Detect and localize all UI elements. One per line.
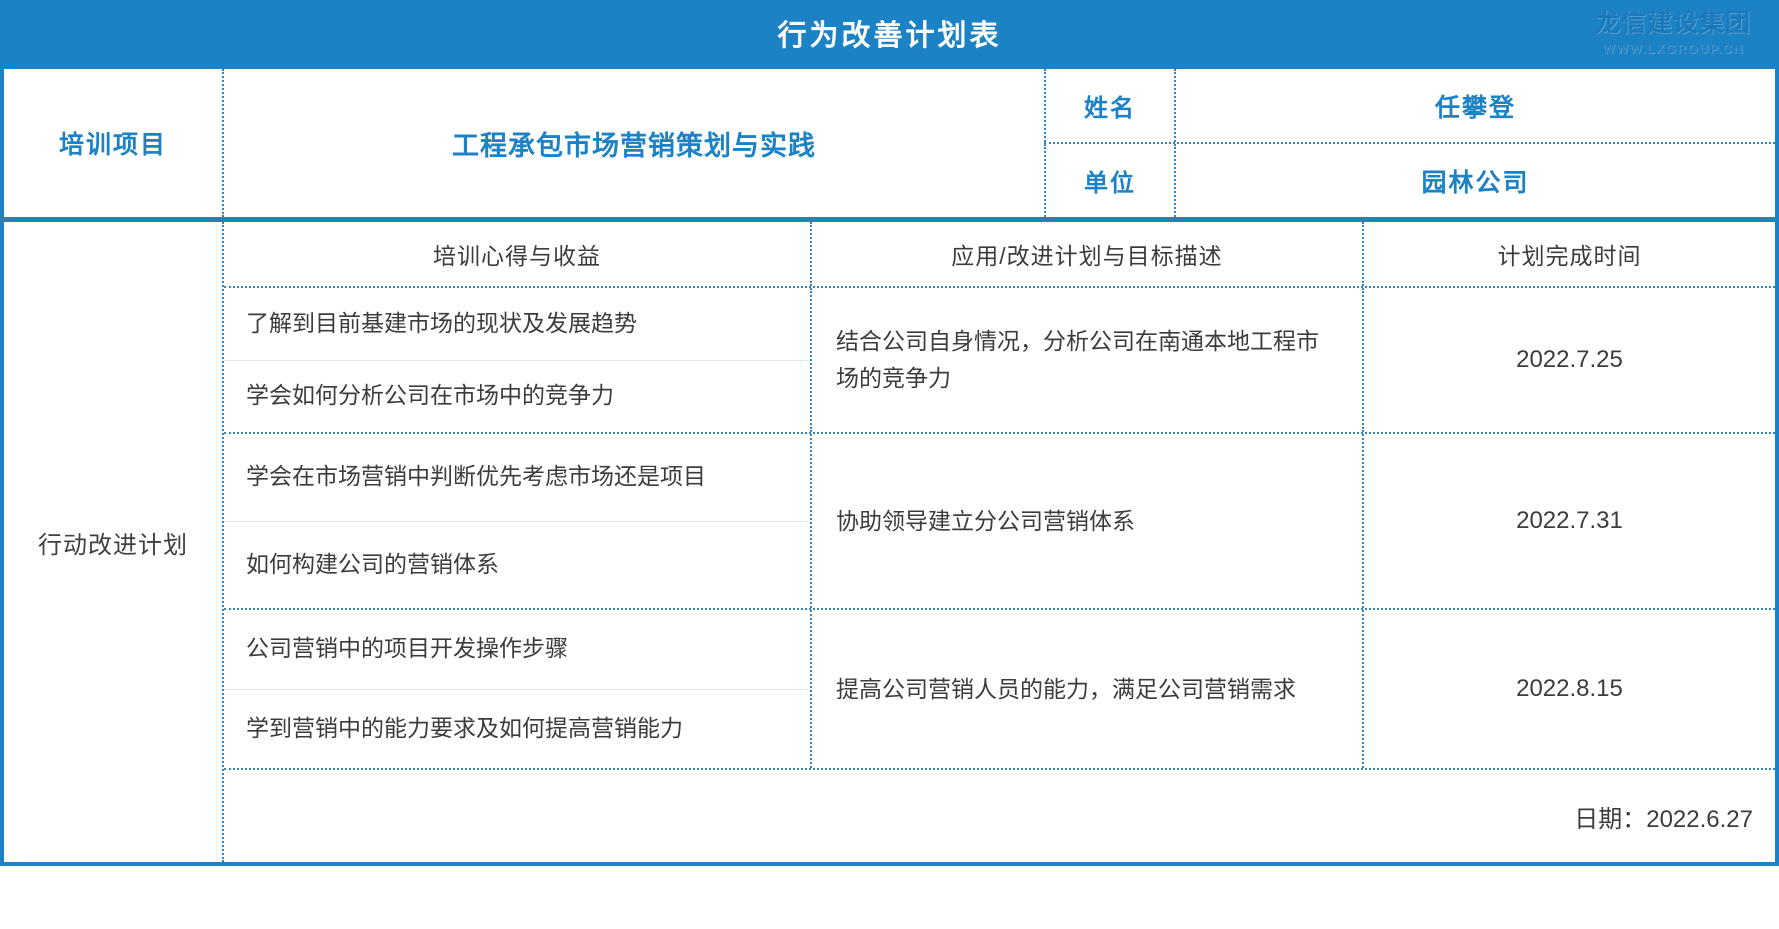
program-label: 培训项目	[4, 69, 224, 217]
footer-date-text: 日期：2022.6.27	[1574, 799, 1753, 834]
plan-cell: 结合公司自身情况，分析公司在南通本地工程市场的竞争力	[812, 288, 1364, 432]
gain-item: 学会如何分析公司在市场中的竞争力	[224, 361, 810, 433]
page-title: 行为改善计划表	[777, 12, 1001, 54]
person-info-group: 姓名 任攀登 单位 园林公司	[1044, 69, 1775, 217]
name-row: 姓名 任攀登	[1044, 69, 1775, 144]
table-header-row: 培训心得与收益 应用/改进计划与目标描述 计划完成时间	[224, 222, 1775, 288]
behavior-improvement-plan-page: 行为改善计划表 龙信建设集团 WWW.LXGROUP.CN 培训项目 工程承包市…	[0, 0, 1779, 929]
unit-value: 园林公司	[1176, 144, 1775, 217]
date-cell: 2022.7.31	[1364, 434, 1775, 608]
header-date: 计划完成时间	[1364, 222, 1775, 286]
name-value: 任攀登	[1176, 69, 1775, 142]
plan-cell: 提高公司营销人员的能力，满足公司营销需求	[812, 610, 1364, 768]
gain-item: 学到营销中的能力要求及如何提高营销能力	[224, 690, 810, 769]
table-row: 学会在市场营销中判断优先考虑市场还是项目 如何构建公司的营销体系 协助领导建立分…	[224, 434, 1775, 610]
gain-item: 了解到目前基建市场的现状及发展趋势	[224, 288, 810, 361]
table-row: 公司营销中的项目开发操作步骤 学到营销中的能力要求及如何提高营销能力 提高公司营…	[224, 610, 1775, 770]
company-logo-watermark: 龙信建设集团 WWW.LXGROUP.CN	[1575, 2, 1771, 64]
gain-cell-group: 了解到目前基建市场的现状及发展趋势 学会如何分析公司在市场中的竞争力	[224, 288, 812, 432]
company-url-text: WWW.LXGROUP.CN	[1602, 41, 1744, 56]
footer-date-row: 日期：2022.6.27	[224, 770, 1775, 862]
gain-cell-group: 学会在市场营销中判断优先考虑市场还是项目 如何构建公司的营销体系	[224, 434, 812, 608]
gain-cell-group: 公司营销中的项目开发操作步骤 学到营销中的能力要求及如何提高营销能力	[224, 610, 812, 768]
unit-row: 单位 园林公司	[1044, 144, 1775, 217]
plan-table: 行动改进计划 培训心得与收益 应用/改进计划与目标描述 计划完成时间 了解到目前…	[0, 222, 1779, 866]
gain-item: 如何构建公司的营销体系	[224, 522, 810, 609]
header-plan: 应用/改进计划与目标描述	[812, 222, 1364, 286]
date-cell: 2022.7.25	[1364, 288, 1775, 432]
company-name-text: 龙信建设集团	[1595, 10, 1751, 36]
unit-label: 单位	[1044, 144, 1176, 217]
program-value: 工程承包市场营销策划与实践	[224, 69, 1044, 217]
title-bar: 行为改善计划表 龙信建设集团 WWW.LXGROUP.CN	[0, 0, 1779, 66]
info-block: 培训项目 工程承包市场营销策划与实践 姓名 任攀登 单位 园林公司	[0, 69, 1779, 217]
gain-item: 学会在市场营销中判断优先考虑市场还是项目	[224, 434, 810, 522]
section-label-cell: 行动改进计划	[4, 222, 224, 862]
name-label: 姓名	[1044, 69, 1176, 142]
gain-item: 公司营销中的项目开发操作步骤	[224, 610, 810, 690]
plan-cell: 协助领导建立分公司营销体系	[812, 434, 1364, 608]
date-cell: 2022.8.15	[1364, 610, 1775, 768]
table-row: 了解到目前基建市场的现状及发展趋势 学会如何分析公司在市场中的竞争力 结合公司自…	[224, 288, 1775, 434]
table-body: 培训心得与收益 应用/改进计划与目标描述 计划完成时间 了解到目前基建市场的现状…	[224, 222, 1775, 862]
header-gain: 培训心得与收益	[224, 222, 812, 286]
